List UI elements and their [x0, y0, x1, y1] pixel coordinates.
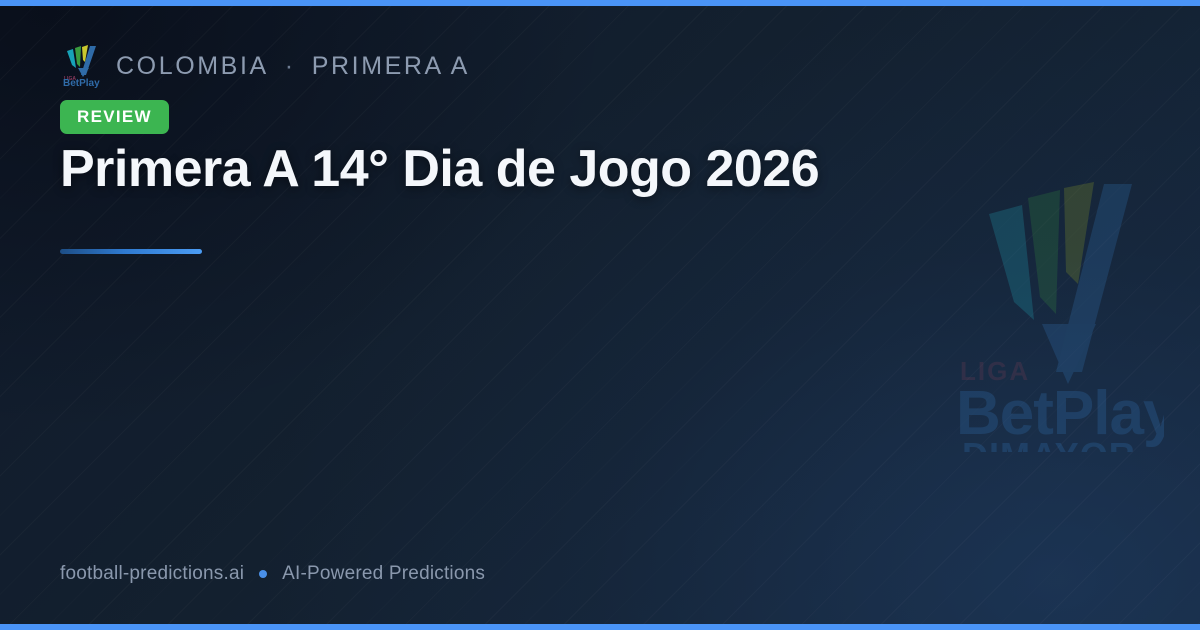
breadcrumb: LIGA BetPlay COLOMBIA · PRIMERA A	[60, 44, 470, 88]
breadcrumb-separator: ·	[285, 52, 296, 81]
site-name: football-predictions.ai	[60, 563, 244, 585]
bullet-dot-icon	[259, 570, 267, 578]
content-area: LIGA BetPlay COLOMBIA · PRIMERA A REVIEW…	[60, 0, 1140, 630]
title-accent-divider	[60, 249, 202, 254]
tagline: AI-Powered Predictions	[282, 563, 485, 585]
status-badge: REVIEW	[60, 100, 169, 134]
svg-text:BetPlay: BetPlay	[63, 78, 100, 88]
bottom-accent-bar	[0, 624, 1200, 630]
competition-label: PRIMERA A	[312, 52, 470, 81]
og-card: LIGA BetPlay DIMAYOR LIGA BetPlay COLOMB…	[0, 0, 1200, 630]
page-title: Primera A 14° Dia de Jogo 2026	[60, 140, 920, 198]
liga-betplay-dimayor-logo-icon: LIGA BetPlay	[60, 44, 102, 88]
top-accent-bar	[0, 0, 1200, 6]
country-label: COLOMBIA	[116, 52, 269, 81]
footer: football-predictions.ai AI-Powered Predi…	[60, 563, 485, 585]
